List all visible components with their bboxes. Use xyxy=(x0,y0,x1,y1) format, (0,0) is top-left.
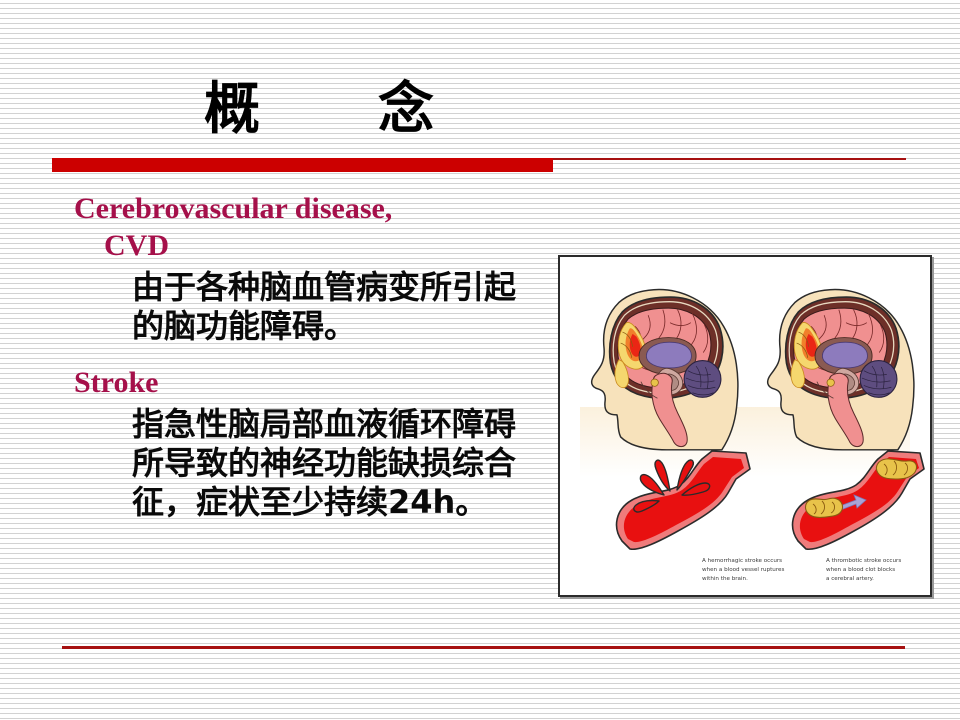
content-column: Cerebrovascular disease, CVD 由于各种脑血管病变所引… xyxy=(74,190,544,522)
stroke-illustration: A hemorrhagic stroke occurs when a blood… xyxy=(558,255,932,597)
slide-canvas: 概 念 Cerebrovascular disease, CVD 由于各种脑血管… xyxy=(0,0,960,720)
term-stroke: Stroke xyxy=(74,364,544,401)
term-cvd: Cerebrovascular disease, CVD xyxy=(74,190,544,264)
caption-thrombotic-line2: when a blood clot blocks xyxy=(826,567,895,573)
divider-thin-line xyxy=(553,158,906,160)
arterial-plaque xyxy=(876,459,916,479)
definition-cvd: 由于各种脑血管病变所引起的脑功能障碍。 xyxy=(74,268,544,346)
caption-hemorrhagic-line2: when a blood vessel ruptures xyxy=(702,567,784,573)
divider-thick-bar xyxy=(52,158,553,172)
blood-clot xyxy=(806,498,843,517)
stroke-illustration-svg: A hemorrhagic stroke occurs when a blood… xyxy=(560,257,930,595)
footer-rule xyxy=(62,646,905,649)
term-cvd-line1: Cerebrovascular disease, xyxy=(74,192,392,225)
caption-thrombotic-line3: a cerebral artery. xyxy=(826,576,874,582)
caption-hemorrhagic-line3: within the brain. xyxy=(702,576,748,582)
title-divider xyxy=(52,158,906,172)
caption-hemorrhagic-line1: A hemorrhagic stroke occurs xyxy=(702,558,782,564)
term-cvd-line2: CVD xyxy=(74,227,544,264)
page-title: 概 念 xyxy=(0,78,640,142)
term-stroke-line1: Stroke xyxy=(74,366,158,399)
definition-stroke: 指急性脑局部血液循环障碍所导致的神经功能缺损综合征，症状至少持续24h。 xyxy=(74,405,544,522)
caption-thrombotic-line1: A thrombotic stroke occurs xyxy=(826,558,901,564)
